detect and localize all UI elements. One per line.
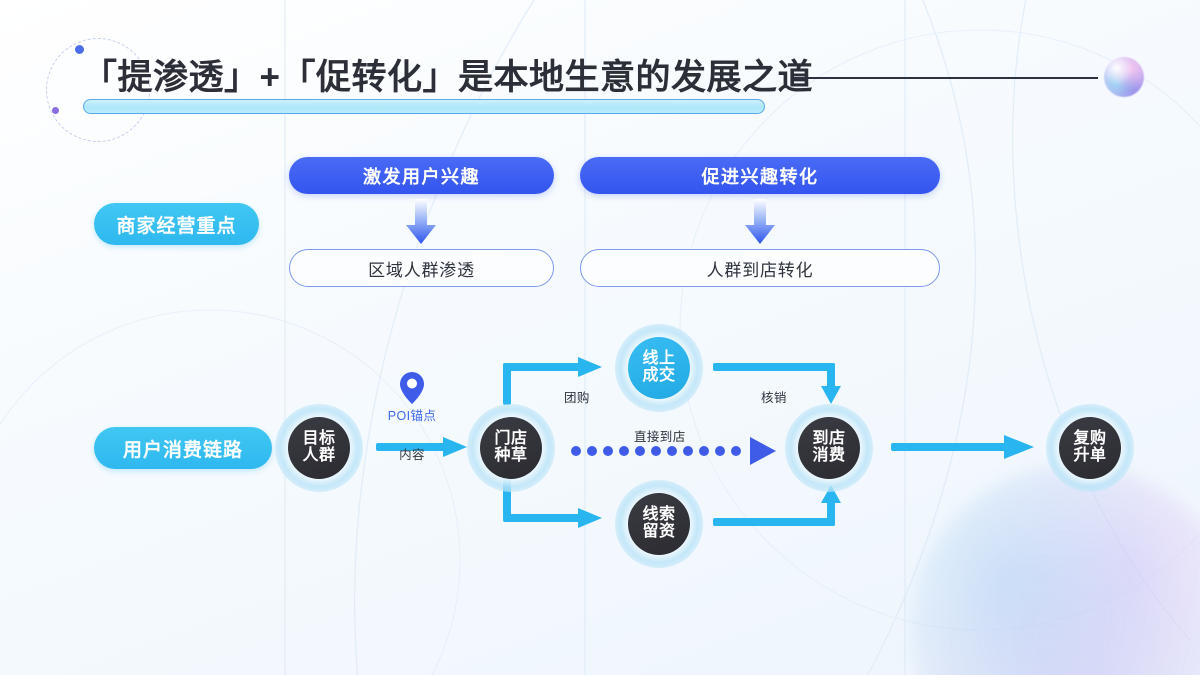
page-title: 「提渗透」+「促转化」是本地生意的发展之道 xyxy=(82,49,813,100)
flow-node-store-seeding[interactable]: 门店 种草 xyxy=(467,404,555,492)
title-horizontal-rule xyxy=(793,77,1098,79)
edge-label-direct-visit: 直接到店 xyxy=(634,426,686,445)
flow-node-line1: 目标 xyxy=(302,431,335,448)
title-underline-bar xyxy=(83,99,765,114)
flow-node-line1: 线上 xyxy=(642,351,675,368)
flow-node-line1: 线索 xyxy=(642,507,675,524)
flow-node-line2: 升单 xyxy=(1073,448,1106,465)
flow-node-line2: 留资 xyxy=(642,524,675,541)
slide-canvas: 「提渗透」+「促转化」是本地生意的发展之道 商家经营重点 激发用户兴趣 促进兴趣… xyxy=(0,0,1200,675)
goal-pill-interest[interactable]: 激发用户兴趣 xyxy=(289,157,554,194)
flow-node-line2: 消费 xyxy=(812,448,845,465)
flow-node-line1: 门店 xyxy=(494,431,527,448)
row-label-merchant-focus: 商家经营重点 xyxy=(94,203,259,245)
arrow-down-icon-convert xyxy=(744,199,776,245)
decorative-gradient-blob xyxy=(910,465,1200,675)
row-label-consumer-chain: 用户消费链路 xyxy=(94,427,272,469)
poi-content-label: 内容 xyxy=(373,444,451,463)
flow-node-line1: 到店 xyxy=(812,431,845,448)
brand-orb-icon xyxy=(1104,57,1144,97)
poi-anchor-label: POI锚点 xyxy=(373,405,451,424)
edge-label-group-buy: 团购 xyxy=(564,387,590,406)
decorative-dot-left xyxy=(52,107,59,114)
flow-node-target-audience[interactable]: 目标 人群 xyxy=(275,404,363,492)
flow-node-line2: 成交 xyxy=(642,368,675,385)
arrow-down-icon-interest xyxy=(405,199,437,245)
map-pin-icon xyxy=(400,372,424,404)
edge-label-redeem: 核销 xyxy=(761,387,787,406)
flow-node-online-transaction[interactable]: 线上 成交 xyxy=(615,324,703,412)
flow-node-line2: 种草 xyxy=(494,448,527,465)
outcome-pill-penetrate[interactable]: 区域人群渗透 xyxy=(289,249,554,287)
flow-node-line1: 复购 xyxy=(1073,431,1106,448)
flow-node-in-store-spend[interactable]: 到店 消费 xyxy=(785,404,873,492)
flow-node-lead-capture[interactable]: 线索 留资 xyxy=(615,480,703,568)
goal-pill-convert[interactable]: 促进兴趣转化 xyxy=(580,157,940,194)
poi-anchor-group: POI锚点 内容 xyxy=(373,372,451,463)
flow-node-repeat-purchase[interactable]: 复购 升单 xyxy=(1046,404,1134,492)
flow-node-line2: 人群 xyxy=(302,448,335,465)
outcome-pill-store-conversion[interactable]: 人群到店转化 xyxy=(580,249,940,287)
